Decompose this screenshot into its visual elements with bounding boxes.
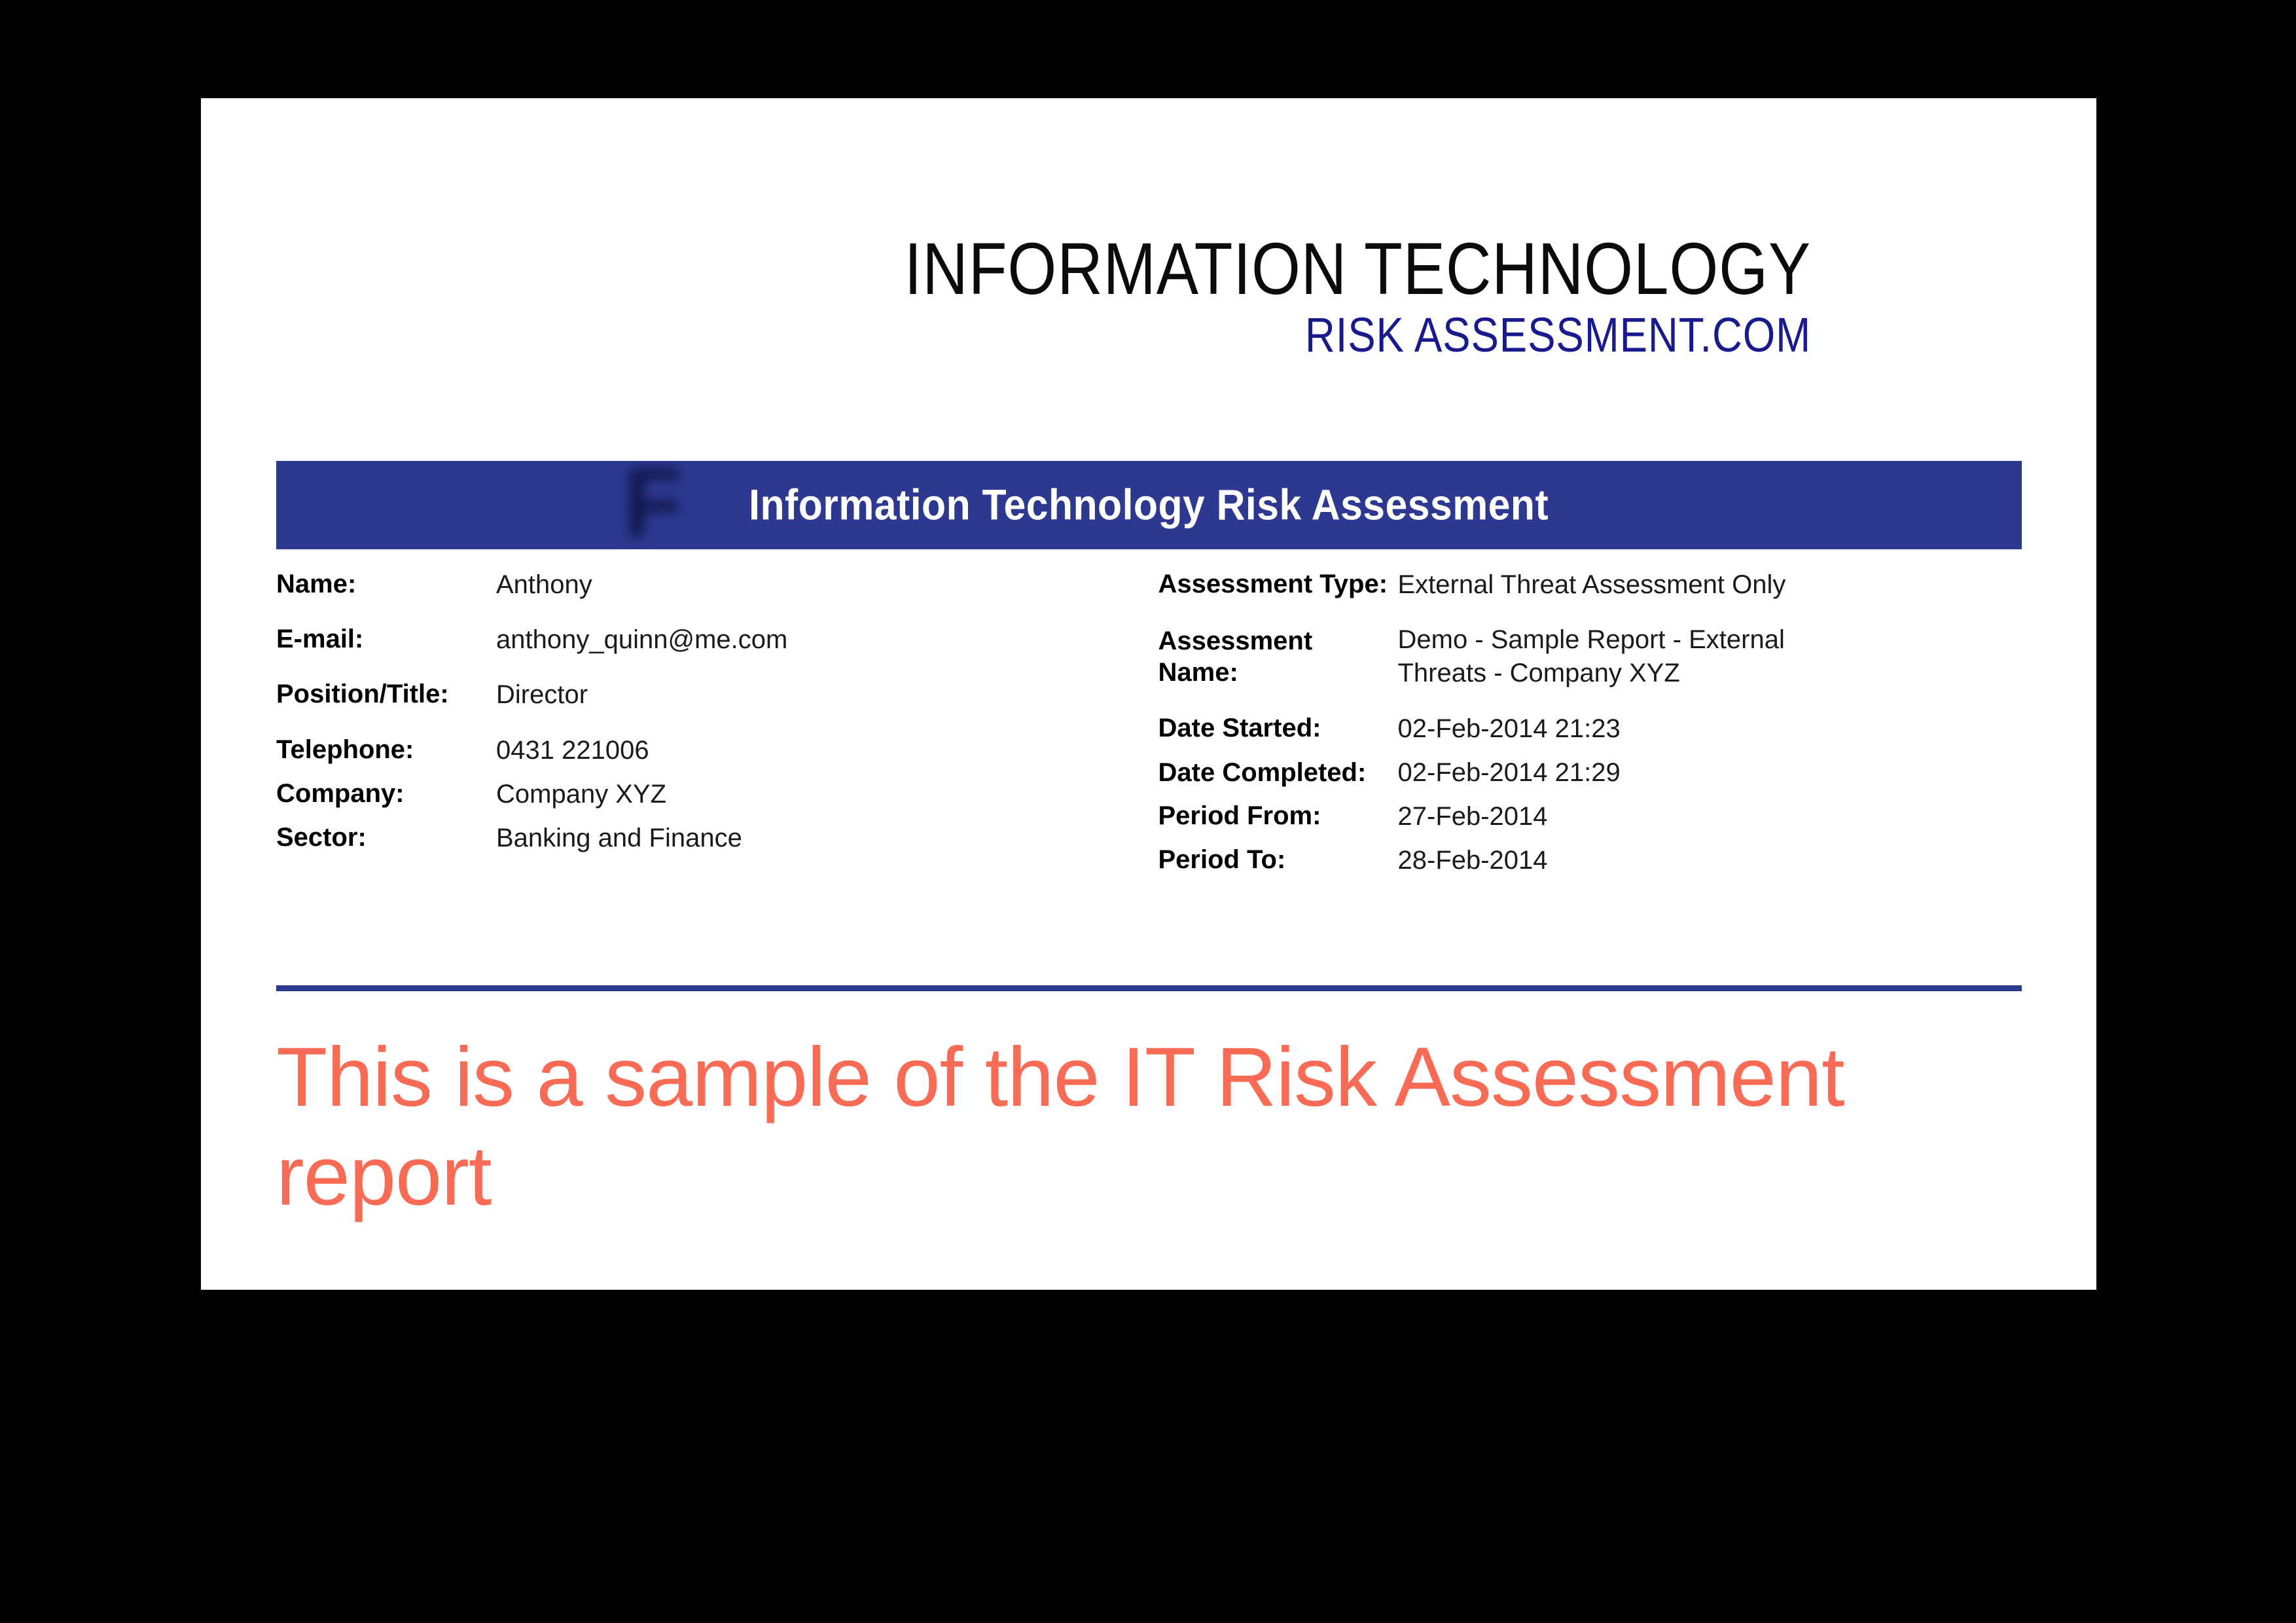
field-label-date-completed: Date Completed: <box>1158 757 1394 789</box>
section-divider <box>276 985 2022 991</box>
field-row-position: Position/Title: Director <box>276 678 1140 712</box>
field-label-date-started: Date Started: <box>1158 712 1394 744</box>
field-value-period-to: 28-Feb-2014 <box>1394 844 1797 877</box>
field-label-assessment-name: Assessment Name: <box>1158 625 1394 689</box>
field-row-date-completed: Date Completed: 02-Feb-2014 21:29 <box>1158 756 2022 790</box>
report-page-sheet: INFORMATION TECHNOLOGY RISK ASSESSMENT.C… <box>201 98 2096 1290</box>
site-logo: INFORMATION TECHNOLOGY RISK ASSESSMENT.C… <box>201 232 1811 359</box>
field-row-name: Name: Anthony <box>276 568 1140 602</box>
field-value-assessment-name: Demo - Sample Report - External Threats … <box>1394 623 1797 690</box>
field-label-email: E-mail: <box>276 623 492 655</box>
field-label-assessment-type: Assessment Type: <box>1158 568 1394 600</box>
page-title: Information Technology Risk Assessment <box>276 479 2022 529</box>
field-row-company: Company: Company XYZ <box>276 778 1140 811</box>
field-label-period-to: Period To: <box>1158 844 1394 876</box>
field-value-email: anthony_quinn@me.com <box>492 623 1140 657</box>
field-label-sector: Sector: <box>276 822 492 854</box>
field-value-company: Company XYZ <box>492 778 1140 811</box>
respondent-details-column: Name: Anthony E-mail: anthony_quinn@me.c… <box>276 568 1140 888</box>
field-row-assessment-type: Assessment Type: External Threat Assessm… <box>1158 568 2022 602</box>
field-row-email: E-mail: anthony_quinn@me.com <box>276 623 1140 657</box>
field-label-position: Position/Title: <box>276 678 492 710</box>
sample-report-notice: This is a sample of the IT Risk Assessme… <box>276 1028 1919 1226</box>
logo-secondary-text: RISK ASSESSMENT.COM <box>426 311 1811 359</box>
assessment-meta-column: Assessment Type: External Threat Assessm… <box>1140 568 2022 888</box>
field-value-telephone: 0431 221006 <box>492 734 1140 767</box>
field-row-telephone: Telephone: 0431 221006 <box>276 734 1140 767</box>
field-row-sector: Sector: Banking and Finance <box>276 822 1140 855</box>
field-label-telephone: Telephone: <box>276 734 492 766</box>
assessment-details-grid: Name: Anthony E-mail: anthony_quinn@me.c… <box>276 568 2022 888</box>
field-value-sector: Banking and Finance <box>492 822 1140 855</box>
field-value-period-from: 27-Feb-2014 <box>1394 800 1797 833</box>
field-value-name: Anthony <box>492 568 1140 602</box>
field-value-position: Director <box>492 678 1140 712</box>
field-label-company: Company: <box>276 778 492 810</box>
field-label-period-from: Period From: <box>1158 800 1394 832</box>
field-row-period-from: Period From: 27-Feb-2014 <box>1158 800 2022 833</box>
field-row-assessment-name: Assessment Name: Demo - Sample Report - … <box>1158 623 2022 690</box>
field-value-assessment-type: External Threat Assessment Only <box>1394 568 1797 602</box>
page-title-label: Information Technology Risk Assessment <box>749 479 1549 529</box>
field-label-name: Name: <box>276 568 492 600</box>
field-value-date-completed: 02-Feb-2014 21:29 <box>1394 756 1797 790</box>
field-row-date-started: Date Started: 02-Feb-2014 21:23 <box>1158 712 2022 746</box>
field-row-period-to: Period To: 28-Feb-2014 <box>1158 844 2022 877</box>
field-value-date-started: 02-Feb-2014 21:23 <box>1394 712 1797 746</box>
logo-primary-text: INFORMATION TECHNOLOGY <box>426 232 1811 306</box>
report-title-band: F Information Technology Risk Assessment <box>276 461 2022 549</box>
